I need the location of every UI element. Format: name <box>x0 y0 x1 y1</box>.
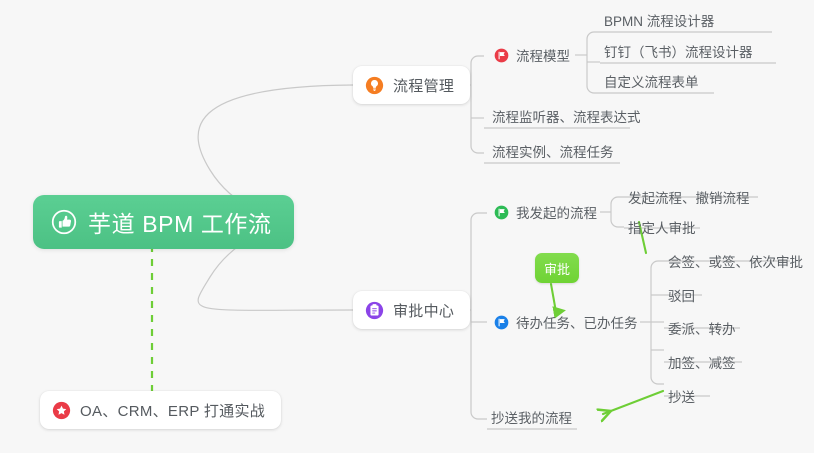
wire-todo-corner-top <box>651 261 664 268</box>
branch-label: 审批中心 <box>393 300 454 321</box>
leaf-label: 发起流程、撤销流程 <box>628 189 750 209</box>
leaf-custom-process-form[interactable]: 自定义流程表单 <box>600 67 703 93</box>
leaf-label: 钉钉（飞书）流程设计器 <box>604 43 753 63</box>
leaf-label: 抄送我的流程 <box>491 409 572 429</box>
node-todo-done-tasks[interactable]: 待办任务、已办任务 <box>494 309 638 335</box>
callout-approval-badge[interactable]: 审批 <box>535 253 579 283</box>
flag-icon <box>494 48 509 63</box>
arrow-cc-to-process <box>603 391 663 414</box>
wire-mine-corner-top <box>611 197 624 204</box>
leaf-label: 自定义流程表单 <box>604 73 699 93</box>
root-node[interactable]: 芋道 BPM 工作流 <box>33 195 294 249</box>
node-my-initiated-process[interactable]: 我发起的流程 <box>494 199 597 225</box>
leaf-add-remove-sign[interactable]: 加签、减签 <box>664 348 740 374</box>
clipboard-icon <box>365 301 384 320</box>
leaf-delegate-transfer[interactable]: 委派、转办 <box>664 314 740 340</box>
wire-todo-corner-bottom <box>651 377 664 384</box>
leaf-label: 委派、转办 <box>668 320 736 340</box>
leaf-cc[interactable]: 抄送 <box>664 382 699 408</box>
leaf-label: 流程实例、流程任务 <box>492 143 614 163</box>
wire-ac-corner-top <box>471 213 487 220</box>
leaf-label: 指定人审批 <box>628 219 696 239</box>
leaf-cc-to-me-process[interactable]: 抄送我的流程 <box>487 403 576 429</box>
wire-mine-corner-bottom <box>611 220 624 227</box>
leaf-label: 驳回 <box>668 287 695 307</box>
leaf-label: 加签、减签 <box>668 354 736 374</box>
wire-model-corner-bottom <box>587 86 600 93</box>
leaf-label: 流程监听器、流程表达式 <box>492 108 641 128</box>
leaf-process-listener-expression[interactable]: 流程监听器、流程表达式 <box>488 102 645 128</box>
callout-label: OA、CRM、ERP 打通实战 <box>80 400 265 421</box>
node-label: 我发起的流程 <box>516 202 597 222</box>
leaf-countersign-orsign-sequential[interactable]: 会签、或签、依次审批 <box>664 247 807 273</box>
wire-pm-corner-top <box>471 56 484 63</box>
node-process-model[interactable]: 流程模型 <box>494 42 570 68</box>
leaf-label: BPMN 流程设计器 <box>604 12 714 32</box>
leaf-reject[interactable]: 驳回 <box>664 281 699 307</box>
leaf-start-cancel-process[interactable]: 发起流程、撤销流程 <box>624 183 754 209</box>
branch-process-management[interactable]: 流程管理 <box>353 66 470 104</box>
lightbulb-icon <box>365 76 384 95</box>
wire-model-corner-top <box>587 32 600 39</box>
branch-label: 流程管理 <box>393 75 454 96</box>
flag-icon <box>494 315 509 330</box>
branch-approval-center[interactable]: 审批中心 <box>353 291 470 329</box>
callout-label: 审批 <box>544 259 570 278</box>
wire-ac-corner-bottom <box>471 412 487 419</box>
callout-integration-note[interactable]: OA、CRM、ERP 打通实战 <box>40 391 281 429</box>
star-icon <box>52 401 71 420</box>
node-label: 流程模型 <box>516 45 570 65</box>
root-label: 芋道 BPM 工作流 <box>88 205 272 239</box>
flag-icon <box>494 205 509 220</box>
leaf-designated-approver[interactable]: 指定人审批 <box>624 213 700 239</box>
node-label: 待办任务、已办任务 <box>516 312 638 332</box>
leaf-dingtalk-feishu-designer[interactable]: 钉钉（飞书）流程设计器 <box>600 37 757 63</box>
leaf-label: 会签、或签、依次审批 <box>668 253 803 273</box>
wire-pm-corner-bottom <box>471 146 484 153</box>
leaf-bpmn-designer[interactable]: BPMN 流程设计器 <box>600 6 718 32</box>
thumbs-up-icon <box>51 209 77 235</box>
leaf-process-instance-task[interactable]: 流程实例、流程任务 <box>488 137 618 163</box>
leaf-label: 抄送 <box>668 388 695 408</box>
arrow-approval-lower <box>551 284 556 312</box>
mindmap-canvas: 芋道 BPM 工作流 流程管理 流程模型 BPMN 流程设计器 钉钉（飞书）流程… <box>0 0 814 453</box>
